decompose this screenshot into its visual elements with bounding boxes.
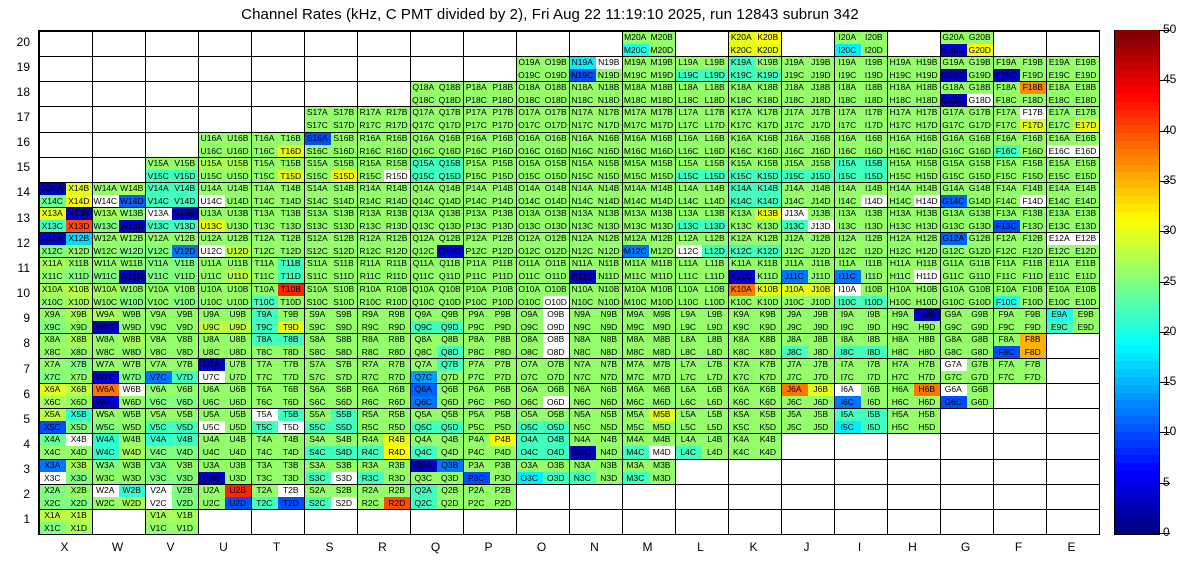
channel-subcell: X13B [66,207,93,220]
channel-subcell: J17B [808,106,835,119]
channel-subcell: P16A [463,132,490,145]
channel-subcell: G20D [967,44,994,57]
channel-subcell: G19C [940,69,967,82]
channel-subcell: P8C [463,346,490,359]
channel-subcell: W11B [119,257,146,270]
tower-cell: Q10AQ10BQ10CQ10D [410,283,463,308]
channel-subcell: N6B [596,383,623,396]
channel-subcell: V10C [145,296,172,309]
tower-cell: T11AT11BT11CT11D [251,257,304,283]
channel-subcell: I17A [834,106,861,119]
channel-subcell: J12D [808,245,835,258]
tower-cell: L11AL11BL11CL11D [675,257,728,283]
channel-subcell: H18C [887,94,914,107]
channel-subcell: H10D [914,296,941,309]
channel-subcell: S15A [304,157,331,170]
channel-subcell: K14D [755,195,782,208]
channel-subcell: O12D [543,245,570,258]
channel-subcell: H13C [887,220,914,233]
channel-subcell: R15D [384,170,411,183]
channel-subcell: W8B [119,333,146,346]
channel-subcell: I13A [834,207,861,220]
channel-subcell: T9D [278,321,305,334]
channel-subcell: S3A [304,459,331,472]
channel-subcell: S3D [331,472,358,485]
y-axis-tick-label: 18 [0,85,30,99]
channel-subcell: P4D [490,446,517,459]
channel-subcell: K15C [728,170,755,183]
channel-subcell: K9B [755,308,782,321]
channel-subcell: V2A [145,484,172,497]
channel-subcell: I9A [834,308,861,321]
channel-subcell: S13B [331,207,358,220]
channel-subcell: M18D [649,94,676,107]
channel-subcell: W13D [119,220,146,233]
colorbar-segment [1115,399,1159,408]
tower-cell: H9AH9BH9CH9D [887,308,940,333]
tower-cell: U16AU16BU16CU16D [198,132,251,157]
channel-subcell: L10C [675,296,702,309]
colorbar-tick-label: 50 [1163,22,1176,36]
channel-subcell: F11A [993,257,1020,270]
channel-subcell: L16D [702,145,729,158]
channel-subcell: Q17B [437,106,464,119]
channel-subcell: L19A [675,56,702,69]
colorbar-segment [1115,140,1159,149]
channel-subcell: Q18C [410,94,437,107]
grid-vline [1099,31,1100,534]
channel-subcell: K20C [728,44,755,57]
channel-subcell: J19A [781,56,808,69]
channel-subcell: W5A [92,408,119,421]
tower-cell: Q5AQ5BQ5CQ5D [410,408,463,433]
tower-cell: Q9AQ9BQ9CQ9D [410,308,463,333]
channel-subcell: U16D [225,145,252,158]
channel-subcell: K7D [755,371,782,384]
tower-cell: J9AJ9BJ9CJ9D [781,308,834,333]
colorbar-segment [1115,266,1159,275]
channel-subcell: I13B [861,207,888,220]
channel-subcell: G8D [967,346,994,359]
channel-subcell: J5C [781,421,808,434]
channel-subcell: M15C [622,170,649,183]
channel-subcell: N3A [569,459,596,472]
channel-subcell: R4D [384,446,411,459]
tower-cell: U2AU2BU2CU2D [198,484,251,509]
channel-subcell: N10D [596,296,623,309]
channel-subcell: N13B [596,207,623,220]
y-axis-tick-label: 8 [0,336,30,350]
channel-subcell: S12A [304,232,331,245]
channel-subcell: O4A [516,433,543,446]
channel-subcell: H19C [887,69,914,82]
channel-subcell: P5A [463,408,490,421]
channel-subcell: I16B [861,132,888,145]
channel-subcell: U6D [225,396,252,409]
channel-subcell: S10C [304,296,331,309]
channel-subcell: U15D [225,170,252,183]
channel-subcell: P16C [463,145,490,158]
channel-subcell: K19C [728,69,755,82]
channel-subcell: P7A [463,358,490,371]
channel-subcell: F17C [993,119,1020,132]
tower-cell: O12AO12BO12CO12D [516,232,569,257]
colorbar-segment [1115,337,1159,346]
tower-cell: W13AW13BW13CW13D [92,207,145,232]
grid-hline [39,207,1099,208]
channel-subcell: E19A [1046,56,1073,69]
tower-cell: O14AO14BO14CO14D [516,182,569,207]
channel-subcell: L18C [675,94,702,107]
channel-subcell: S10A [304,283,331,296]
channel-subcell: H5D [914,421,941,434]
channel-subcell: N10B [596,283,623,296]
channel-subcell: U12A [198,232,225,245]
channel-subcell: H9A [887,308,914,321]
channel-subcell: S14D [331,195,358,208]
channel-subcell: P16B [490,132,517,145]
y-axis-tick-label: 12 [0,236,30,250]
colorbar-tick-label: 5 [1163,475,1170,489]
page-title: Channel Rates (kHz, C PMT divided by 2),… [0,6,1100,23]
channel-subcell: L15A [675,157,702,170]
tower-cell: U5AU5BU5CU5D [198,408,251,433]
tower-cell: N17AN17BN17CN17D [569,106,622,132]
tower-cell: O7AO7BO7CO7D [516,358,569,383]
tower-cell: M9AM9BM9CM9D [622,308,675,333]
grid-hline [39,333,1099,334]
tower-cell: R15AR15BR15CR15D [357,157,410,182]
channel-subcell: M8D [649,346,676,359]
channel-subcell: O19C [516,69,543,82]
channel-subcell: Q6B [437,383,464,396]
channel-subcell: G8A [940,333,967,346]
channel-subcell: N18D [596,94,623,107]
y-axis-tick-label: 10 [0,286,30,300]
tower-cell: S12AS12BS12CS12D [304,232,357,257]
y-axis-tick-label: 17 [0,110,30,124]
colorbar-segment [1115,321,1159,330]
channel-subcell: F9C [993,321,1020,334]
channel-subcell: H14A [887,182,914,195]
channel-subcell: S12C [304,245,331,258]
channel-subcell: P6A [463,383,490,396]
tower-cell: I6AI6BI6CI6D [834,383,887,408]
channel-subcell: W6A [92,383,119,396]
channel-subcell: W3D [119,472,146,485]
tower-cell: G6AG6BG6CG6D [940,383,993,408]
channel-subcell: L14A [675,182,702,195]
channel-subcell: U9B [225,308,252,321]
channel-subcell: I14D [861,195,888,208]
channel-subcell: N3C [569,472,596,485]
channel-subcell: K4A [728,433,755,446]
channel-subcell: H13B [914,207,941,220]
channel-subcell: L11B [702,257,729,270]
channel-subcell: X7A [39,358,66,371]
channel-subcell: Q13D [437,220,464,233]
channel-subcell: F14D [1020,195,1047,208]
channel-subcell: U13B [225,207,252,220]
channel-subcell: I10C [834,296,861,309]
channel-subcell: J8D [808,346,835,359]
channel-subcell: P2B [490,484,517,497]
channel-subcell: X7C [39,371,66,384]
channel-subcell: I17B [861,106,888,119]
channel-subcell: L18D [702,94,729,107]
tower-cell: U4AU4BU4CU4D [198,433,251,459]
channel-subcell: F18D [1020,94,1047,107]
tower-cell: F12AF12BF12CF12D [993,232,1046,257]
channel-subcell: G9C [940,321,967,334]
channel-subcell: N18B [596,81,623,94]
channel-subcell: Q3C [410,472,437,485]
tower-cell: O10AO10BO10CO10D [516,283,569,308]
channel-subcell: L19D [702,69,729,82]
channel-subcell: Q9D [437,321,464,334]
channel-subcell: E9C [1046,321,1073,334]
channel-subcell: W7A [92,358,119,371]
channel-subcell: P2D [490,497,517,510]
channel-subcell: F10A [993,283,1020,296]
channel-subcell: E13B [1073,207,1100,220]
channel-subcell: I6B [861,383,888,396]
channel-subcell: R5B [384,408,411,421]
colorbar-segment [1115,368,1159,377]
channel-subcell: M11B [649,257,676,270]
colorbar-segment [1115,360,1159,369]
tower-cell: J8AJ8BJ8CJ8D [781,333,834,358]
colorbar-tick-label: 40 [1163,123,1176,137]
tower-cell: U12AU12BU12CU12D [198,232,251,257]
channel-subcell: E12B [1073,232,1100,245]
channel-subcell: F18B [1020,81,1047,94]
tower-cell: W4AW4BW4CW4D [92,433,145,459]
channel-subcell: R5A [357,408,384,421]
tower-cell: K6AK6BK6CK6D [728,383,781,408]
channel-subcell: G11A [940,257,967,270]
channel-subcell: W13C [92,220,119,233]
tower-cell: I15AI15BI15CI15D [834,157,887,182]
channel-subcell: G13C [940,220,967,233]
channel-subcell: V1D [172,522,199,535]
channel-subcell: Q7C [410,371,437,384]
channel-subcell: M11C [622,270,649,283]
channel-subcell: Q15C [410,170,437,183]
channel-subcell: L11A [675,257,702,270]
channel-subcell: R12C [357,245,384,258]
tower-cell: O8AO8BO8CO8D [516,333,569,358]
channel-subcell: V4D [172,446,199,459]
channel-subcell: M13D [649,220,676,233]
channel-subcell: X12D [66,245,93,258]
channel-subcell: G11C [940,270,967,283]
channel-subcell: E15D [1073,170,1100,183]
channel-subcell: N5A [569,408,596,421]
tower-cell: N10AN10BN10CN10D [569,283,622,308]
channel-subcell: F11C [993,270,1020,283]
channel-subcell: J19D [808,69,835,82]
y-axis-tick-label: 7 [0,362,30,376]
tower-cell: T2AT2BT2CT2D [251,484,304,509]
channel-subcell: V11D [172,270,199,283]
channel-subcell: H17B [914,106,941,119]
channel-subcell: L5B [702,408,729,421]
channel-subcell: F12D [1020,245,1047,258]
channel-subcell: M11A [622,257,649,270]
channel-subcell: S2C [304,497,331,510]
channel-subcell: H17D [914,119,941,132]
tower-cell: T13AT13BT13CT13D [251,207,304,232]
channel-subcell: M7A [622,358,649,371]
tower-cell: O15AO15BO15CO15D [516,157,569,182]
channel-subcell: F19A [993,56,1020,69]
channel-subcell: N8D [596,346,623,359]
channel-subcell: K5D [755,421,782,434]
colorbar-segment [1115,470,1159,479]
channel-subcell: U16A [198,132,225,145]
channel-subcell: H19B [914,56,941,69]
tower-cell: J13AJ13BJ13CJ13D [781,207,834,232]
grid-hline [39,31,1099,32]
tower-cell: G15AG15BG15CG15D [940,157,993,182]
channel-subcell: X11A [39,257,66,270]
channel-subcell: R12D [384,245,411,258]
channel-subcell: P9C [463,321,490,334]
channel-subcell: I6D [861,396,888,409]
channel-subcell: T15B [278,157,305,170]
channel-subcell: N13A [569,207,596,220]
channel-subcell: N4B [596,433,623,446]
channel-subcell: K18A [728,81,755,94]
tower-cell: P16AP16BP16CP16D [463,132,516,157]
channel-subcell: G11D [967,270,994,283]
colorbar-segment [1115,30,1159,39]
channel-subcell: G9A [940,308,967,321]
channel-subcell: T9C [251,321,278,334]
tower-cell: T7AT7BT7CT7D [251,358,304,383]
tower-cell: Q8AQ8BQ8CQ8D [410,333,463,358]
tower-cell: I5AI5BI5CI5D [834,408,887,433]
channel-subcell: P7C [463,371,490,384]
channel-subcell: S10D [331,296,358,309]
colorbar-segment [1115,179,1159,188]
channel-subcell: N5B [596,408,623,421]
channel-subcell: R13C [357,220,384,233]
channel-subcell: E16D [1073,145,1100,158]
tower-cell: I16AI16BI16CI16D [834,132,887,157]
channel-subcell: F12C [993,245,1020,258]
channel-subcell: S9A [304,308,331,321]
channel-subcell: F10B [1020,283,1047,296]
tower-cell: M7AM7BM7CM7D [622,358,675,383]
tower-cell: T16AT16BT16CT16D [251,132,304,157]
channel-subcell: J9C [781,321,808,334]
channel-subcell: R10D [384,296,411,309]
channel-subcell: V12C [145,245,172,258]
colorbar-segment [1115,109,1159,118]
tower-cell: J12AJ12BJ12CJ12D [781,232,834,257]
grid-hline [39,484,1099,485]
channel-subcell: I12B [861,232,888,245]
tower-cell: N3AN3BN3CN3D [569,459,622,484]
channel-subcell: N7C [569,371,596,384]
channel-subcell: K14A [728,182,755,195]
grid-hline [39,408,1099,409]
tower-cell: G16AG16BG16CG16D [940,132,993,157]
tower-cell: S8AS8BS8CS8D [304,333,357,358]
channel-subcell: E14D [1073,195,1100,208]
channel-subcell: K9A [728,308,755,321]
channel-subcell: M14B [649,182,676,195]
channel-subcell: W8D [119,346,146,359]
channel-subcell: R7B [384,358,411,371]
channel-subcell: O3D [543,472,570,485]
tower-cell: M15AM15BM15CM15D [622,157,675,182]
channel-subcell: U16C [198,145,225,158]
channel-subcell: R2A [357,484,384,497]
colorbar-segment [1115,226,1159,235]
tower-cell: H15AH15BH15CH15D [887,157,940,182]
channel-subcell: L7C [675,371,702,384]
channel-subcell: K13A [728,207,755,220]
tower-cell: O16AO16BO16CO16D [516,132,569,157]
tower-cell: Q15AQ15BQ15CQ15D [410,157,463,182]
tower-cell: T15AT15BT15CT15D [251,157,304,182]
channel-subcell: Q14A [410,182,437,195]
channel-subcell: L11D [702,270,729,283]
channel-subcell: O11C [516,270,543,283]
x-axis-tick-label: X [38,540,91,554]
channel-subcell: K20B [755,31,782,44]
channel-subcell: U14B [225,182,252,195]
channel-subcell: T5C [251,421,278,434]
channel-subcell: G10A [940,283,967,296]
channel-subcell: J14C [781,195,808,208]
grid-hline [39,283,1099,284]
channel-subcell: J7C [781,371,808,384]
channel-subcell: Q5A [410,408,437,421]
channel-subcell: X5A [39,408,66,421]
tower-cell: W9AW9BW9CW9D [92,308,145,333]
tower-cell: R7AR7BR7CR7D [357,358,410,383]
channel-subcell: S4B [331,433,358,446]
channel-subcell: E19C [1046,69,1073,82]
tower-cell: V6AV6BV6CV6D [145,383,198,408]
y-axis-tick-label: 19 [0,60,30,74]
channel-subcell: K7B [755,358,782,371]
channel-subcell: P3A [463,459,490,472]
channel-subcell: R3C [357,472,384,485]
channel-subcell: S15B [331,157,358,170]
channel-subcell: M12B [649,232,676,245]
channel-subcell: I5C [834,421,861,434]
channel-subcell: I15D [861,170,888,183]
channel-subcell: H8D [914,346,941,359]
grid-hline [39,132,1099,133]
tower-cell: T14AT14BT14CT14D [251,182,304,207]
channel-subcell: M4D [649,446,676,459]
channel-subcell: E14C [1046,195,1073,208]
channel-subcell: E10C [1046,296,1073,309]
channel-subcell: O13C [516,220,543,233]
channel-subcell: S8D [331,346,358,359]
grid-hline [39,56,1099,57]
channel-subcell: L12C [675,245,702,258]
channel-subcell: X10C [39,296,66,309]
channel-subcell: U8C [198,346,225,359]
tower-cell: V12AV12BV12CV12D [145,232,198,257]
